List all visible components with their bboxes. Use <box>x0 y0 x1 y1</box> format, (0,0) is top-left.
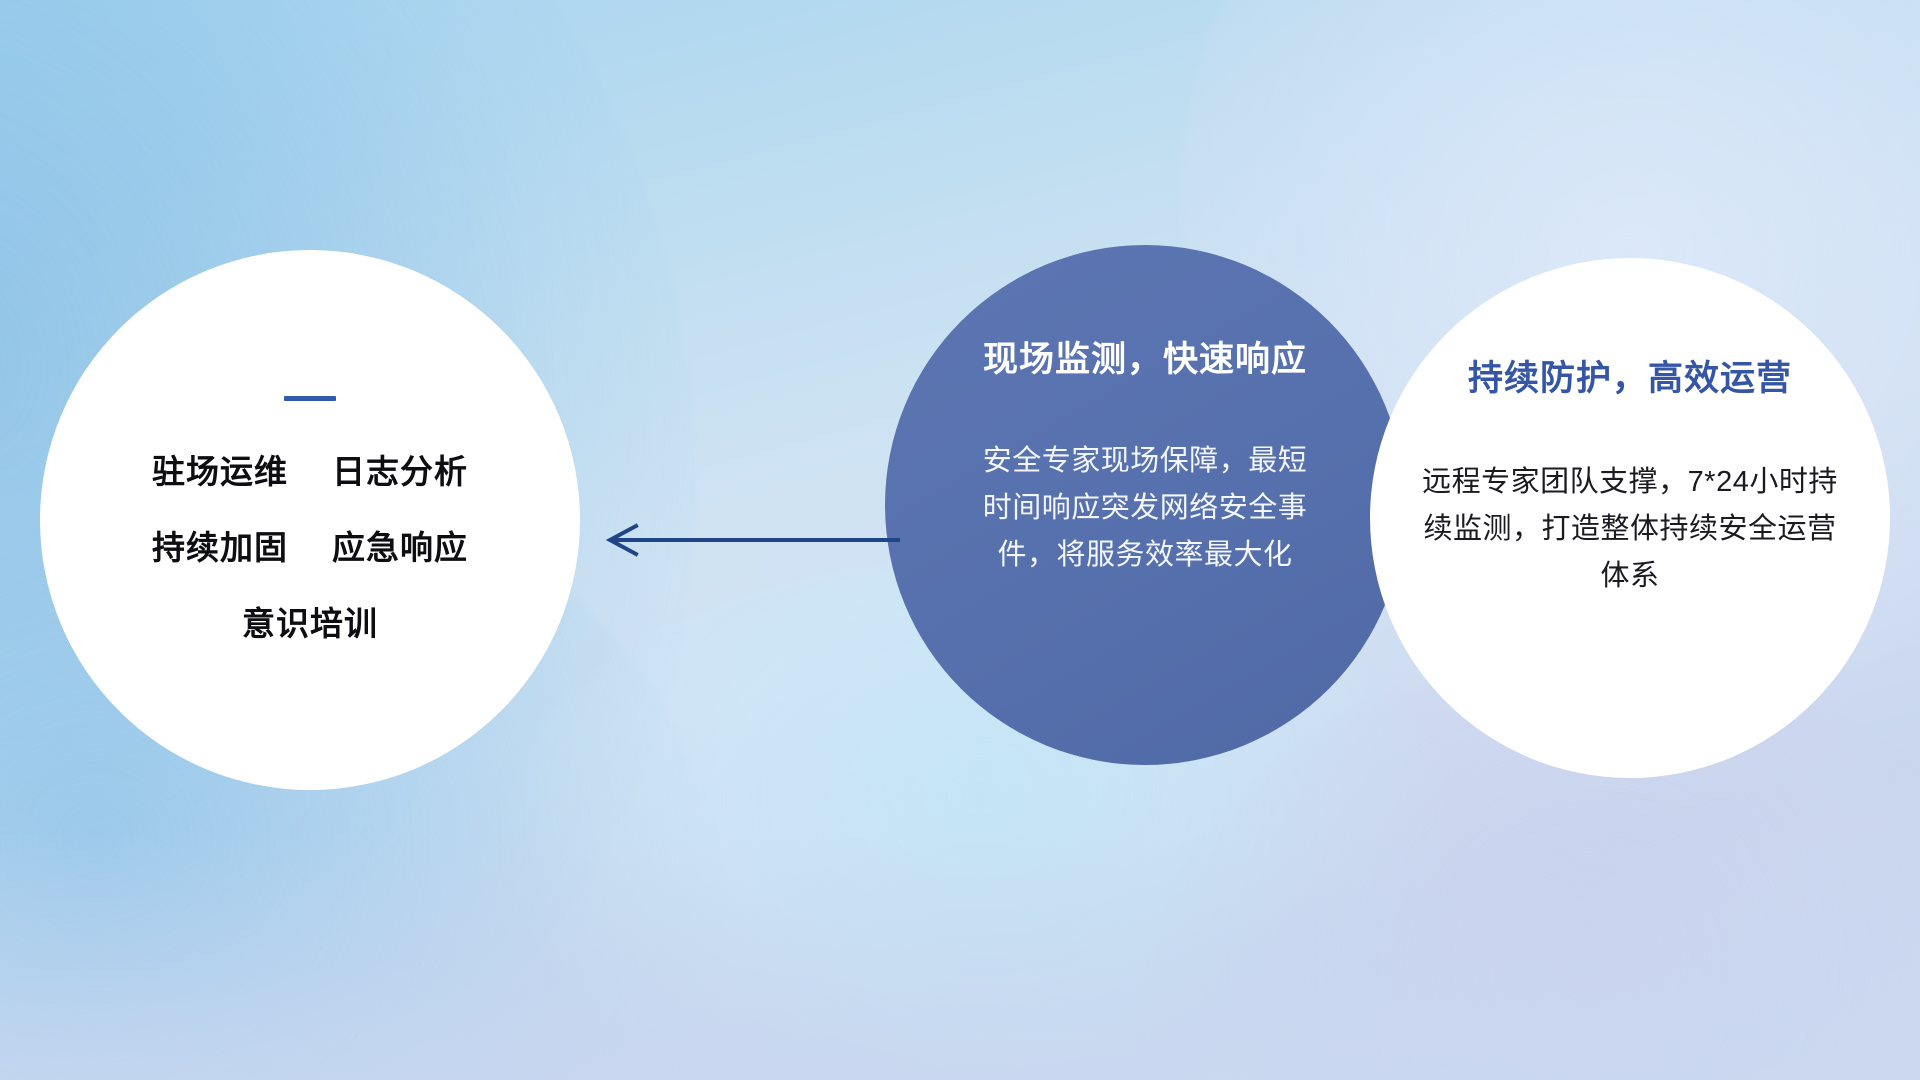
onsite-monitoring-body: 安全专家现场保障，最短时间响应突发网络安全事件，将服务效率最大化 <box>980 438 1310 579</box>
continuous-protection-circle: 持续防护，高效运营 远程专家团队支撑，7*24小时持续监测，打造整体持续安全运营… <box>1370 258 1890 778</box>
onsite-monitoring-circle: 现场监测，快速响应 安全专家现场保障，最短时间响应突发网络安全事件，将服务效率最… <box>885 245 1405 765</box>
flow-arrow <box>600 520 900 560</box>
arrow-left-icon <box>600 520 900 560</box>
capabilities-list: 驻场运维 日志分析 持续加固 应急响应 意识培训 <box>152 445 468 645</box>
continuous-protection-body: 远程专家团队支撑，7*24小时持续监测，打造整体持续安全运营体系 <box>1420 459 1840 600</box>
capability-label: 应急响应 <box>332 521 468 569</box>
capability-label: 日志分析 <box>332 445 468 493</box>
capability-label: 意识培训 <box>242 597 378 645</box>
capability-label: 持续加固 <box>152 521 288 569</box>
divider-dash <box>284 396 336 401</box>
capabilities-row: 意识培训 <box>242 597 378 645</box>
background-band-bottom <box>0 830 1920 1080</box>
onsite-monitoring-title: 现场监测，快速响应 <box>983 331 1307 382</box>
capability-label: 驻场运维 <box>152 445 288 493</box>
capabilities-row: 驻场运维 日志分析 <box>152 445 468 493</box>
capabilities-row: 持续加固 应急响应 <box>152 521 468 569</box>
capabilities-circle: 驻场运维 日志分析 持续加固 应急响应 意识培训 <box>40 250 580 790</box>
continuous-protection-title: 持续防护，高效运营 <box>1468 350 1792 401</box>
